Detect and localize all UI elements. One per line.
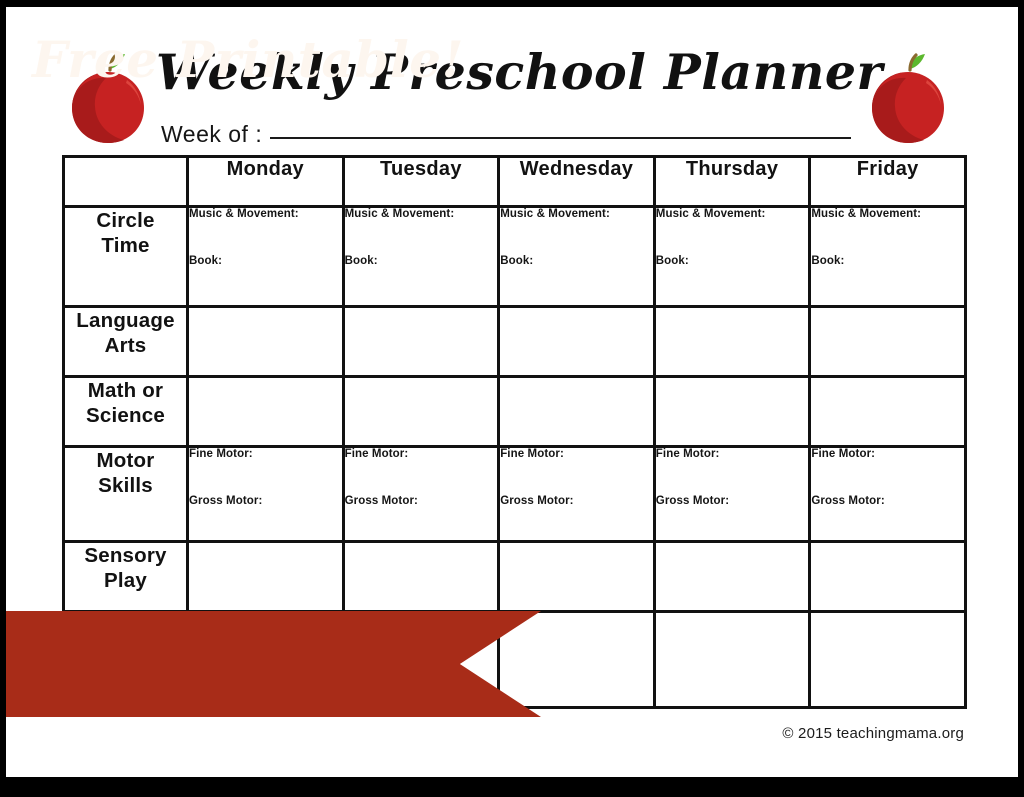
copyright-text: © 2015 teachingmama.org	[782, 725, 964, 742]
page-frame: Weekly Preschool Planner Week of : Monda…	[0, 0, 1024, 797]
week-of-label: Week of :	[161, 121, 262, 148]
cell-motor-skills-wednesday[interactable]: Fine Motor: Gross Motor:	[499, 447, 655, 542]
sublabel-book: Book:	[811, 255, 964, 268]
sublabel-gross-motor: Gross Motor:	[345, 495, 498, 508]
free-printable-banner-label: Free Printable!	[32, 21, 472, 99]
row-label-line1: Math or	[65, 378, 186, 403]
sublabel-music-movement: Music & Movement:	[656, 208, 809, 221]
sublabel-gross-motor: Gross Motor:	[811, 495, 964, 508]
cell-circle-time-monday[interactable]: Music & Movement: Book:	[188, 207, 344, 307]
table-row: Motor Skills Fine Motor: Gross Motor: Fi…	[64, 447, 966, 542]
cell-motor-skills-tuesday[interactable]: Fine Motor: Gross Motor:	[343, 447, 499, 542]
table-corner-cell	[64, 157, 188, 207]
column-header-monday: Monday	[188, 157, 344, 207]
row-label-motor-skills: Motor Skills	[64, 447, 188, 542]
row-label-line1: Motor	[65, 448, 186, 473]
row-label-line2: Arts	[65, 333, 186, 358]
sublabel-fine-motor: Fine Motor:	[656, 448, 809, 461]
week-of-row: Week of :	[161, 121, 851, 148]
cell-circle-time-wednesday[interactable]: Music & Movement: Book:	[499, 207, 655, 307]
cell-motor-skills-thursday[interactable]: Fine Motor: Gross Motor:	[654, 447, 810, 542]
cell-language-arts-friday[interactable]	[810, 307, 966, 377]
planner-sheet: Weekly Preschool Planner Week of : Monda…	[6, 7, 1018, 777]
row-label-line1: Language	[65, 308, 186, 333]
row-label-line2: Skills	[65, 473, 186, 498]
sublabel-fine-motor: Fine Motor:	[500, 448, 653, 461]
table-row: Language Arts	[64, 307, 966, 377]
row-label-line2: Play	[65, 568, 186, 593]
row-label-sensory-play: Sensory Play	[64, 542, 188, 612]
sublabel-book: Book:	[500, 255, 653, 268]
cell-process-art-wednesday[interactable]	[499, 612, 655, 708]
column-header-thursday: Thursday	[654, 157, 810, 207]
sublabel-gross-motor: Gross Motor:	[189, 495, 342, 508]
sublabel-fine-motor: Fine Motor:	[811, 448, 964, 461]
table-row: Math or Science	[64, 377, 966, 447]
sublabel-book: Book:	[189, 255, 342, 268]
column-header-friday: Friday	[810, 157, 966, 207]
week-of-input-line[interactable]	[270, 137, 851, 139]
sublabel-music-movement: Music & Movement:	[811, 208, 964, 221]
sublabel-music-movement: Music & Movement:	[189, 208, 342, 221]
cell-language-arts-monday[interactable]	[188, 307, 344, 377]
cell-math-or-science-wednesday[interactable]	[499, 377, 655, 447]
cell-sensory-play-wednesday[interactable]	[499, 542, 655, 612]
cell-circle-time-thursday[interactable]: Music & Movement: Book:	[654, 207, 810, 307]
cell-math-or-science-tuesday[interactable]	[343, 377, 499, 447]
row-label-line2: Science	[65, 403, 186, 428]
cell-sensory-play-tuesday[interactable]	[343, 542, 499, 612]
table-row: Sensory Play	[64, 542, 966, 612]
cell-process-art-friday[interactable]	[810, 612, 966, 708]
cell-sensory-play-thursday[interactable]	[654, 542, 810, 612]
cell-circle-time-tuesday[interactable]: Music & Movement: Book:	[343, 207, 499, 307]
column-header-tuesday: Tuesday	[343, 157, 499, 207]
row-label-math-or-science: Math or Science	[64, 377, 188, 447]
column-header-wednesday: Wednesday	[499, 157, 655, 207]
cell-sensory-play-friday[interactable]	[810, 542, 966, 612]
cell-language-arts-thursday[interactable]	[654, 307, 810, 377]
sublabel-gross-motor: Gross Motor:	[656, 495, 809, 508]
sublabel-fine-motor: Fine Motor:	[345, 448, 498, 461]
sublabel-music-movement: Music & Movement:	[345, 208, 498, 221]
cell-sensory-play-monday[interactable]	[188, 542, 344, 612]
sublabel-gross-motor: Gross Motor:	[500, 495, 653, 508]
sublabel-fine-motor: Fine Motor:	[189, 448, 342, 461]
row-label-line1: Circle	[65, 208, 186, 233]
cell-process-art-thursday[interactable]	[654, 612, 810, 708]
table-row: Circle Time Music & Movement: Book: Musi…	[64, 207, 966, 307]
cell-motor-skills-monday[interactable]: Fine Motor: Gross Motor:	[188, 447, 344, 542]
cell-math-or-science-thursday[interactable]	[654, 377, 810, 447]
row-label-language-arts: Language Arts	[64, 307, 188, 377]
sublabel-book: Book:	[656, 255, 809, 268]
sublabel-music-movement: Music & Movement:	[500, 208, 653, 221]
sublabel-book: Book:	[345, 255, 498, 268]
row-label-line2: Time	[65, 233, 186, 258]
table-header-row: Monday Tuesday Wednesday Thursday Friday	[64, 157, 966, 207]
cell-language-arts-wednesday[interactable]	[499, 307, 655, 377]
cell-circle-time-friday[interactable]: Music & Movement: Book:	[810, 207, 966, 307]
cell-motor-skills-friday[interactable]: Fine Motor: Gross Motor:	[810, 447, 966, 542]
row-label-circle-time: Circle Time	[64, 207, 188, 307]
cell-math-or-science-monday[interactable]	[188, 377, 344, 447]
cell-language-arts-tuesday[interactable]	[343, 307, 499, 377]
cell-math-or-science-friday[interactable]	[810, 377, 966, 447]
row-label-line1: Sensory	[65, 543, 186, 568]
